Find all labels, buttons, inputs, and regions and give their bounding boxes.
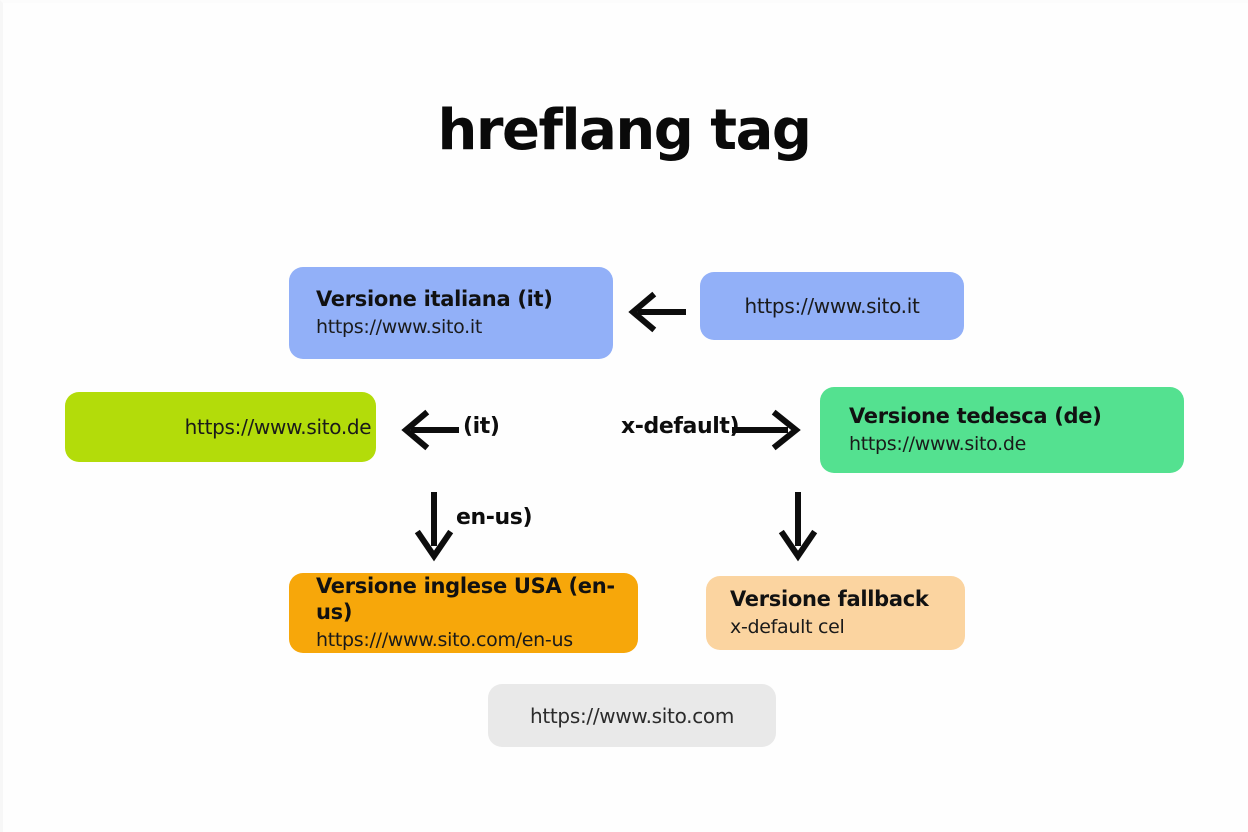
node-title: Versione italiana (it) (316, 286, 613, 312)
hreflang-diagram: hreflang tag Versione italiana (it) http… (0, 0, 1248, 832)
node-url: https://www.sito.de (849, 432, 1184, 457)
node-title: Versione fallback (730, 586, 965, 612)
arrow-down-icon (778, 490, 818, 562)
arrow-label-en-us: en-us) (456, 505, 532, 530)
node-root-url: https://www.sito.com (488, 684, 776, 747)
arrow-left-icon (626, 290, 688, 334)
arrow-left-icon (399, 408, 461, 452)
node-url: https://www.sito.com (530, 703, 734, 729)
node-sito-de-url: https://www.sito.de (65, 392, 376, 462)
node-title: Versione inglese USA (en-us) (316, 573, 638, 626)
arrow-right-icon (730, 408, 802, 452)
node-title: Versione tedesca (de) (849, 403, 1184, 429)
node-url: https://www.sito.it (744, 293, 919, 319)
node-url: x-default cel (730, 615, 965, 640)
node-url: https://www.sito.it (316, 315, 613, 340)
page-title: hreflang tag (0, 98, 1248, 163)
node-versione-italiana: Versione italiana (it) https://www.sito.… (289, 267, 613, 359)
arrow-label-it: (it) (463, 414, 500, 439)
node-url: https://www.sito.de (185, 414, 372, 440)
node-versione-tedesca: Versione tedesca (de) https://www.sito.d… (820, 387, 1184, 473)
arrow-label-x-default: x-default) (621, 414, 739, 439)
arrow-down-icon (414, 490, 454, 562)
node-sito-it-url: https://www.sito.it (700, 272, 964, 340)
node-versione-inglese-usa: Versione inglese USA (en-us) https:///ww… (289, 573, 638, 653)
node-url: https:///www.sito.com/en-us (316, 628, 638, 653)
node-versione-fallback: Versione fallback x-default cel (706, 576, 965, 650)
